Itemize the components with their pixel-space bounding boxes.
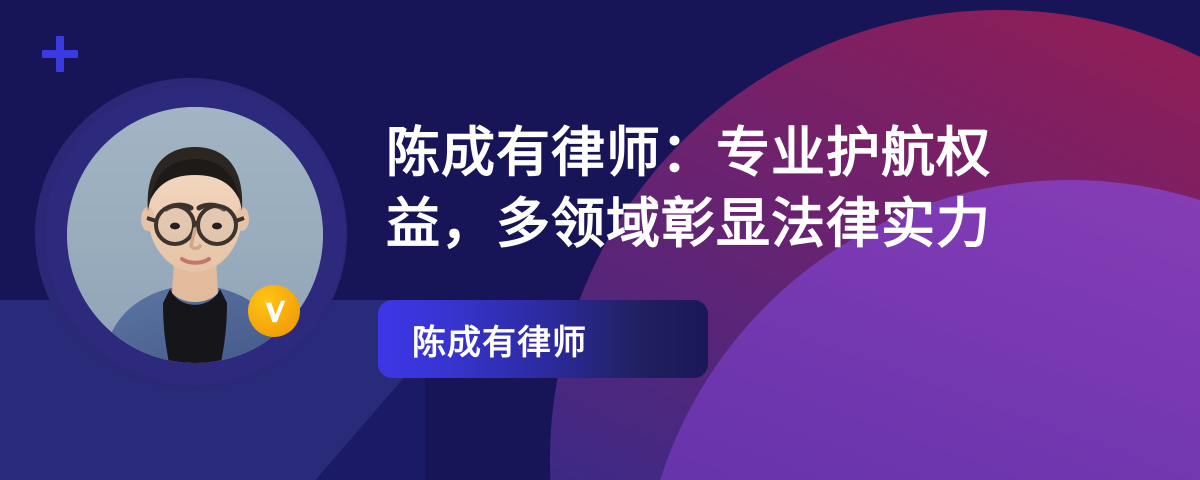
promo-banner: 陈成有律师：专业护航权 益，多领域彰显法律实力 陈成有律师 (0, 0, 1200, 480)
banner-content: 陈成有律师：专业护航权 益，多领域彰显法律实力 陈成有律师 (386, 118, 1086, 261)
author-name-label: 陈成有律师 (378, 315, 587, 364)
author-name-chip[interactable]: 陈成有律师 (378, 300, 708, 378)
page-title: 陈成有律师：专业护航权 益，多领域彰显法律实力 (386, 118, 1086, 261)
plus-icon (42, 36, 78, 72)
page-title-line-2: 益，多领域彰显法律实力 (386, 189, 1086, 260)
verified-badge (248, 285, 300, 337)
page-title-line-1: 陈成有律师：专业护航权 (386, 118, 1086, 189)
plus-icon-vertical-bar (56, 36, 64, 72)
avatar (45, 85, 345, 385)
